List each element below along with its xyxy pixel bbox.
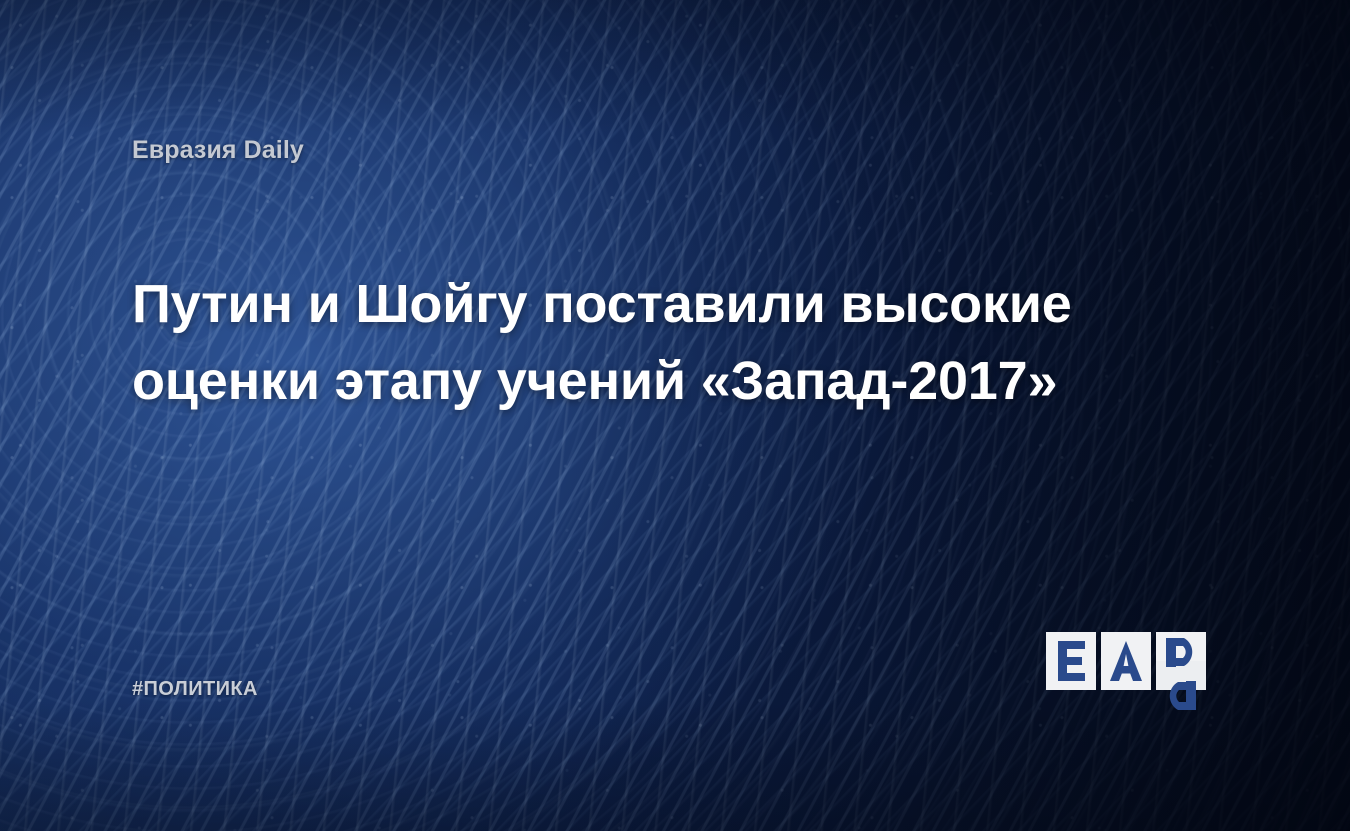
rubric-tag-politics: #ПОЛИТИКА bbox=[132, 678, 258, 701]
brand-wordmark: Евразия Daily bbox=[132, 136, 304, 165]
logo-letter-e-icon bbox=[1046, 632, 1096, 690]
logo-tile-d bbox=[1156, 632, 1206, 690]
news-share-card: Евразия Daily Путин и Шойгу поставили вы… bbox=[0, 0, 1350, 831]
card-content: Евразия Daily Путин и Шойгу поставили вы… bbox=[0, 0, 1350, 831]
logo-tile-a bbox=[1101, 632, 1151, 690]
logo-letter-a-icon bbox=[1101, 632, 1151, 690]
logo-letter-d-icon bbox=[1156, 632, 1206, 716]
headline-title: Путин и Шойгу поставили высокие оценки э… bbox=[132, 266, 1132, 420]
eadaily-logo bbox=[1046, 632, 1206, 690]
logo-tile-e bbox=[1046, 632, 1096, 690]
